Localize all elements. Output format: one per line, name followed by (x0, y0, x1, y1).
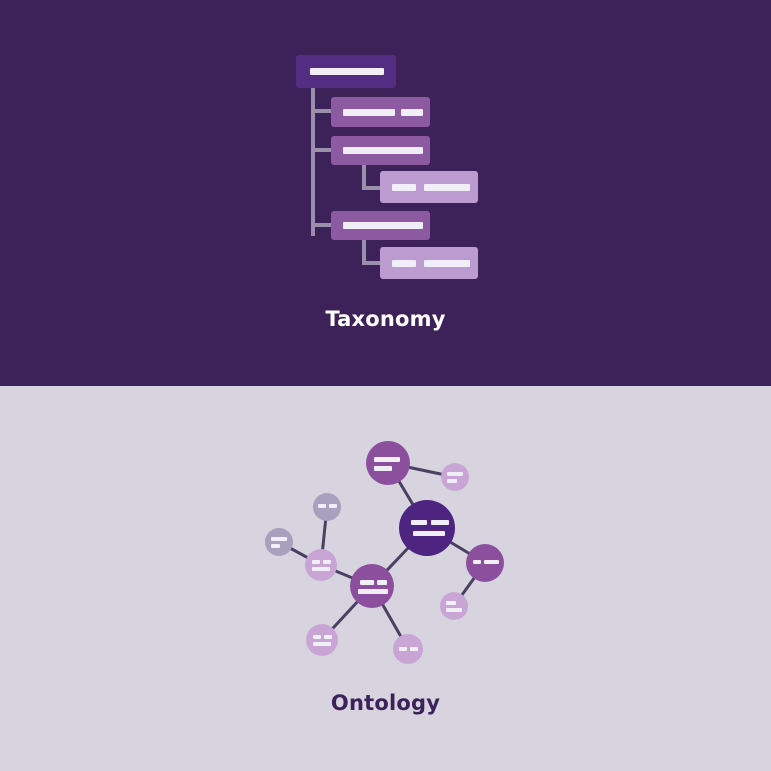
ontology-node-label-bar (358, 589, 388, 594)
tree-connector-to-child-b (311, 148, 333, 152)
ontology-node-circle (441, 463, 469, 491)
illustration-canvas: Taxonomy Ontology (0, 0, 771, 771)
ontology-node-circle (366, 441, 410, 485)
taxonomy-node-label-bar (401, 109, 423, 116)
ontology-node-bottom-left (306, 624, 338, 656)
ontology-graph-diagram (0, 386, 771, 686)
taxonomy-node-leaf-c1 (380, 247, 478, 279)
ontology-node-label-bar (312, 560, 320, 564)
ontology-node-label-bar (271, 537, 287, 541)
ontology-node-label-bar (324, 635, 332, 639)
taxonomy-tree-diagram (0, 0, 771, 300)
ontology-node-far-left (265, 528, 293, 556)
ontology-node-label-bar (431, 520, 449, 525)
taxonomy-node-label-bar (310, 68, 384, 75)
taxonomy-node-label-bar (424, 184, 470, 191)
ontology-node-label-bar (323, 560, 331, 564)
taxonomy-caption: Taxonomy (0, 307, 771, 331)
ontology-node-right-low (440, 592, 468, 620)
ontology-panel: Ontology (0, 386, 771, 771)
ontology-node-label-bar (313, 635, 321, 639)
ontology-node-hub-top (366, 441, 410, 485)
ontology-node-circle (306, 624, 338, 656)
ontology-node-top-right (441, 463, 469, 491)
ontology-node-circle (399, 500, 455, 556)
ontology-node-label-bar (313, 642, 331, 646)
ontology-node-circle (265, 528, 293, 556)
taxonomy-node-label-bar (392, 260, 416, 267)
ontology-node-label-bar (410, 647, 418, 651)
tree-connector-to-child-c (311, 223, 333, 227)
ontology-node-bottom-right (393, 634, 423, 664)
taxonomy-node-root (296, 55, 396, 88)
ontology-node-label-bar (413, 531, 445, 536)
ontology-node-label-bar (374, 457, 400, 462)
ontology-caption: Ontology (0, 691, 771, 715)
ontology-node-circle (440, 592, 468, 620)
ontology-node-label-bar (447, 479, 457, 483)
taxonomy-node-label-bar (424, 260, 470, 267)
ontology-node-label-bar (312, 567, 330, 571)
ontology-node-hub-lower (350, 564, 394, 608)
taxonomy-node-child-a (331, 97, 430, 127)
ontology-node-label-bar (447, 472, 463, 476)
ontology-node-upper-left (313, 493, 341, 521)
ontology-node-circle (393, 634, 423, 664)
ontology-node-label-bar (271, 544, 280, 548)
ontology-node-mid-left (305, 549, 337, 581)
taxonomy-node-label-bar (343, 147, 423, 154)
taxonomy-panel: Taxonomy (0, 0, 771, 386)
ontology-node-label-bar (484, 560, 499, 564)
ontology-node-right-mid (466, 544, 504, 582)
taxonomy-node-child-c (331, 211, 430, 240)
ontology-node-label-bar (446, 608, 462, 612)
ontology-node-label-bar (473, 560, 481, 564)
ontology-node-label-bar (360, 580, 374, 585)
taxonomy-node-label-bar (392, 184, 416, 191)
ontology-graph-svg (0, 386, 771, 686)
taxonomy-node-label-bar (343, 109, 395, 116)
taxonomy-node-leaf-b1 (380, 171, 478, 203)
ontology-node-label-bar (374, 466, 392, 471)
tree-connector-to-child-a (311, 109, 333, 113)
taxonomy-node-label-bar (343, 222, 423, 229)
ontology-node-circle (350, 564, 394, 608)
ontology-node-circle (305, 549, 337, 581)
ontology-node-label-bar (318, 504, 326, 508)
ontology-node-label-bar (411, 520, 427, 525)
taxonomy-node-child-b (331, 136, 430, 165)
ontology-node-label-bar (446, 601, 456, 605)
ontology-node-label-bar (399, 647, 407, 651)
ontology-node-label-bar (329, 504, 337, 508)
ontology-node-core (399, 500, 455, 556)
ontology-node-label-bar (377, 580, 387, 585)
